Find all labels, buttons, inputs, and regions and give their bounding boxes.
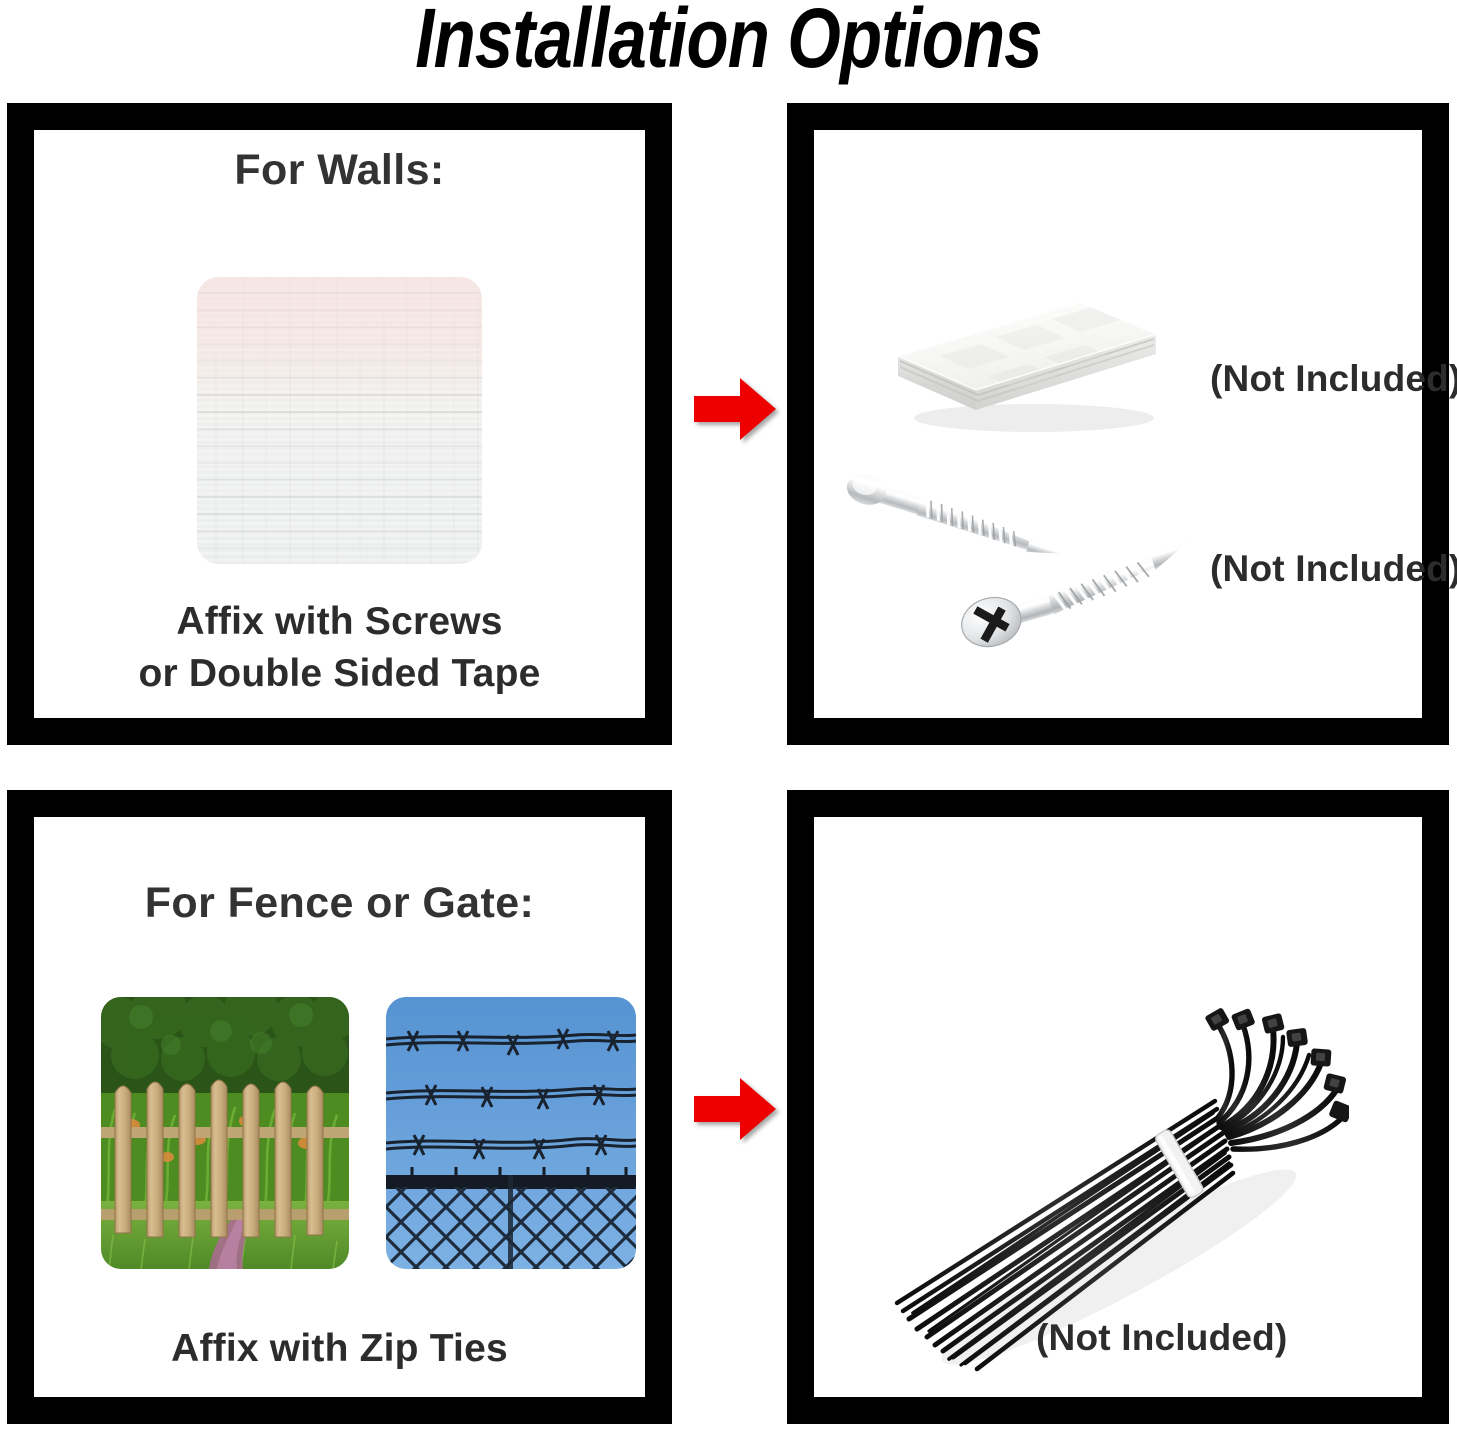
panel-walls-caption-line2: or Double Sided Tape [34, 648, 645, 699]
wood-screw-image-lower [934, 535, 1214, 665]
zip-ties-not-included-label: (Not Included) [1036, 1317, 1287, 1359]
right-arrow-icon-top [694, 378, 776, 440]
right-arrow-icon-bottom [694, 1078, 776, 1140]
panel-for-walls: For Walls: Affix with Screws or Double S… [7, 103, 672, 745]
double-sided-tape-stack-image [884, 258, 1174, 438]
panel-fence-caption: Affix with Zip Ties [34, 1323, 645, 1374]
panel-walls-heading: For Walls: [34, 146, 645, 195]
panel-fence-hardware: (Not Included) [787, 790, 1449, 1424]
screws-not-included-label: (Not Included) [1210, 548, 1457, 590]
picket-fence-photo [101, 997, 349, 1269]
chain-link-fence-photo [386, 997, 636, 1269]
wall-photo [197, 277, 482, 564]
panel-for-fence-or-gate: For Fence or Gate: [7, 790, 672, 1424]
wall-tint-overlay [197, 277, 482, 564]
page-title: Installation Options [131, 0, 1326, 82]
panel-fence-heading: For Fence or Gate: [34, 879, 645, 928]
tape-not-included-label: (Not Included) [1210, 358, 1457, 400]
panel-wall-hardware: (Not Included) [787, 103, 1449, 745]
panel-walls-caption-line1: Affix with Screws [34, 596, 645, 647]
